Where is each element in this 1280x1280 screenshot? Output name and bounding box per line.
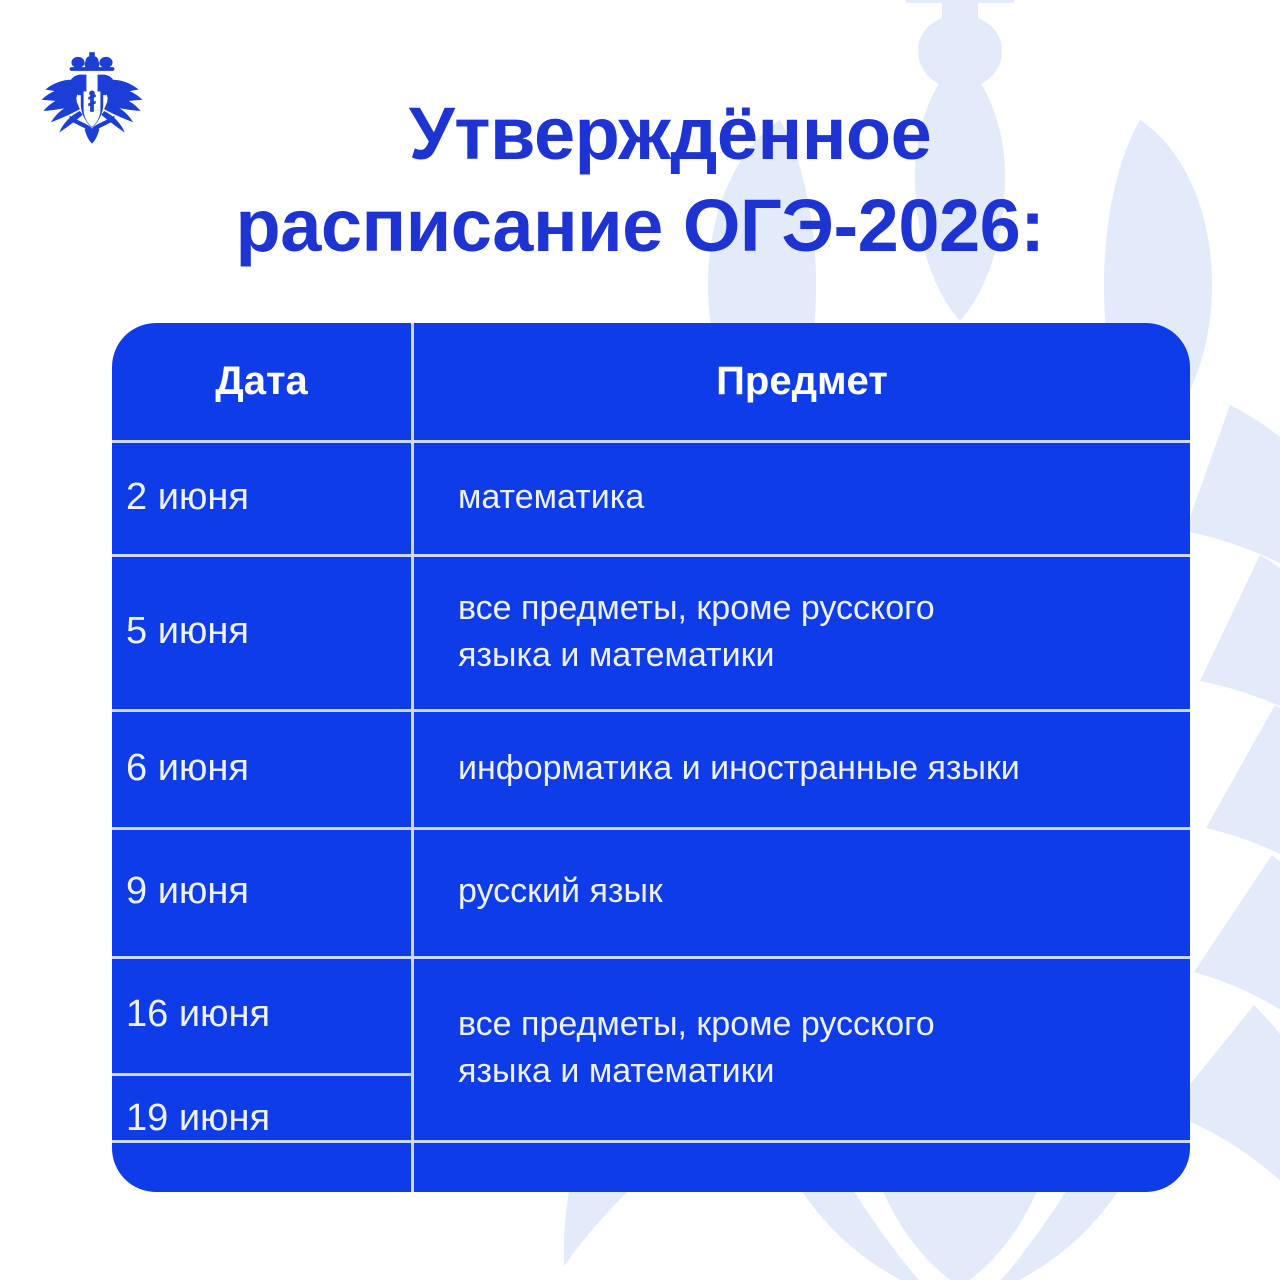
column-header-subject: Предмет [414,323,1190,440]
title-line-2: расписание ОГЭ-2026: [0,180,1280,272]
merged-subject-line-1: все предметы, кроме русского [458,1001,935,1048]
subject-line-1: все предметы, кроме русского [458,585,935,632]
table-row-date-0: 2 июня [112,440,411,554]
table-row-subject-merged: все предметы, кроме русского языка и мат… [414,956,1190,1140]
table-row-subject-1: все предметы, кроме русского языка и мат… [414,554,1190,709]
table-row-subject-2: информатика и иностранные языки [414,709,1190,827]
table-row-subject-0: математика [414,440,1190,554]
title-line-1: Утверждённое [0,88,1280,180]
schedule-table: Дата Предмет 2 июня математика 5 июня вс… [112,323,1190,1192]
row-divider-6 [112,1140,1190,1143]
table-row-date-4: 16 июня [112,956,411,1073]
column-header-date: Дата [112,323,411,440]
poster-canvas: Утверждённое расписание ОГЭ-2026: Дата П… [0,0,1280,1280]
table-row-date-5: 19 июня [112,1076,411,1140]
subject-line-2: языка и математики [458,632,935,679]
page-title: Утверждённое расписание ОГЭ-2026: [0,88,1280,272]
table-row-subject-3: русский язык [414,827,1190,956]
table-row-date-3: 9 июня [112,827,411,956]
merged-subject-line-2: языка и математики [458,1048,935,1095]
table-row-date-1: 5 июня [112,554,411,709]
table-row-date-2: 6 июня [112,709,411,827]
